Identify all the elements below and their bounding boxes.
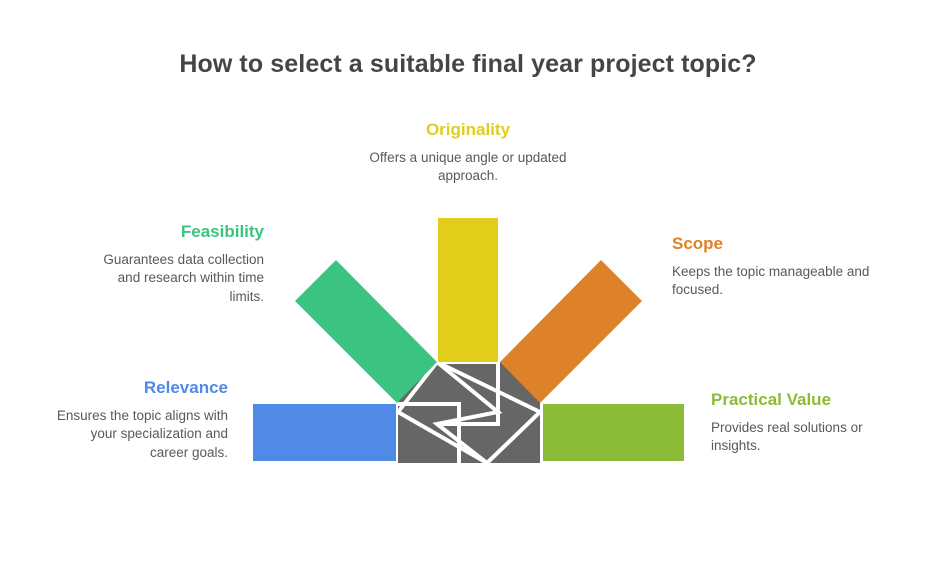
description-relevance: Ensures the topic aligns with your speci… bbox=[50, 407, 228, 463]
label-block-relevance: Relevance Ensures the topic aligns with … bbox=[50, 378, 228, 462]
spoke-bar-feasibility bbox=[295, 260, 437, 403]
heading-practical-value: Practical Value bbox=[711, 390, 911, 410]
label-block-practical-value: Practical Value Provides real solutions … bbox=[711, 390, 911, 456]
heading-originality: Originality bbox=[338, 120, 598, 140]
spoke-bar-relevance bbox=[253, 404, 396, 461]
heading-scope: Scope bbox=[672, 234, 882, 254]
description-scope: Keeps the topic manageable and focused. bbox=[672, 263, 882, 300]
heading-relevance: Relevance bbox=[50, 378, 228, 398]
description-practical-value: Provides real solutions or insights. bbox=[711, 419, 911, 456]
description-originality: Offers a unique angle or updated approac… bbox=[338, 149, 598, 186]
spoke-bar-practical-value bbox=[543, 404, 684, 461]
label-block-feasibility: Feasibility Guarantees data collection a… bbox=[82, 222, 264, 306]
heading-feasibility: Feasibility bbox=[82, 222, 264, 242]
infographic-canvas: How to select a suitable final year proj… bbox=[0, 0, 936, 563]
spoke-bar-originality bbox=[438, 218, 498, 362]
label-block-originality: Originality Offers a unique angle or upd… bbox=[338, 120, 598, 186]
spoke-bar-scope bbox=[500, 260, 642, 403]
description-feasibility: Guarantees data collection and research … bbox=[82, 251, 264, 307]
label-block-scope: Scope Keeps the topic manageable and foc… bbox=[672, 234, 882, 300]
